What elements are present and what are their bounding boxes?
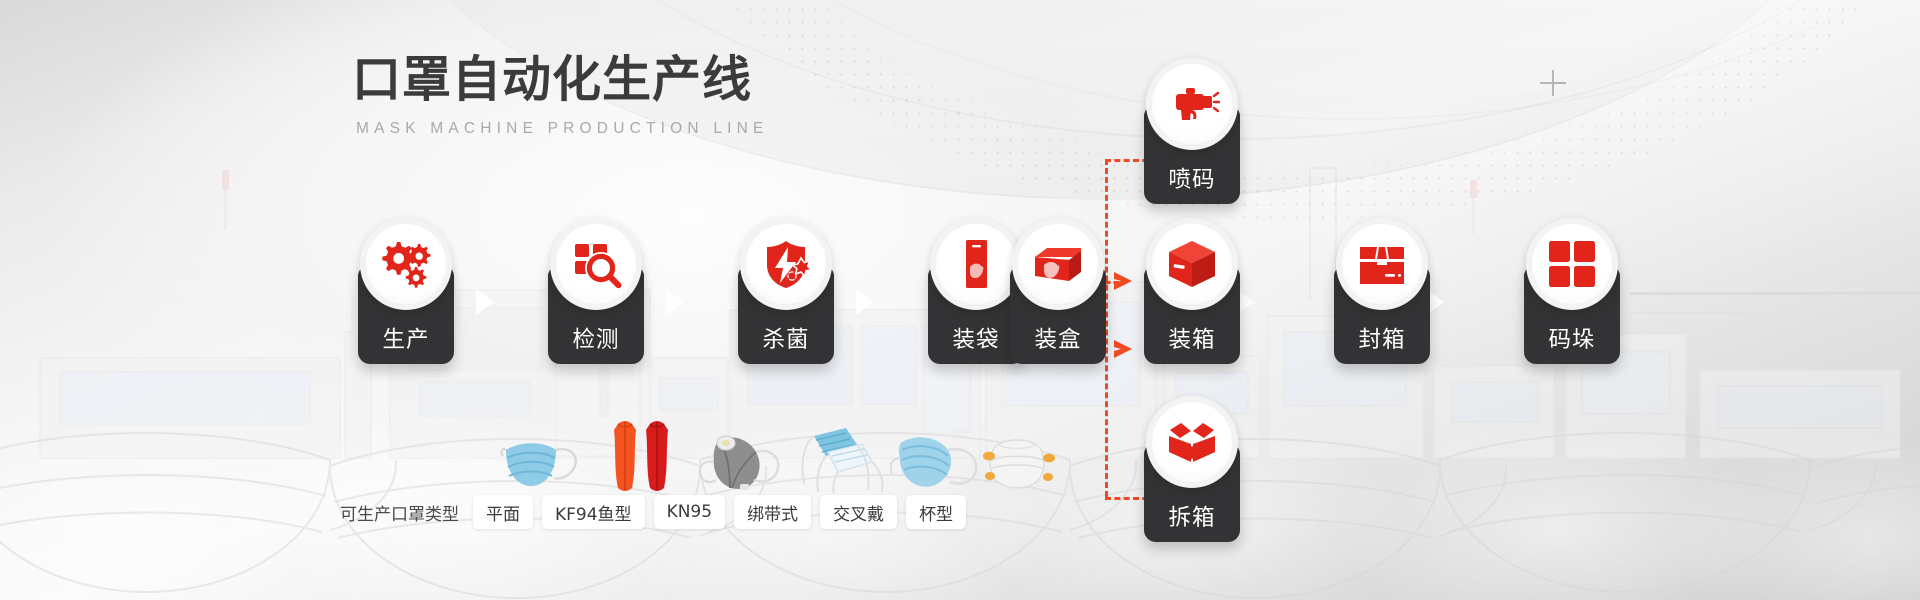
conveyor-rail-line-1: [1630, 292, 1920, 295]
flow-node-label: 码垛: [1548, 329, 1595, 352]
flow-node-jiance[interactable]: 检测: [548, 266, 644, 364]
swoosh-curve-3: [640, 0, 1920, 120]
open-box-icon: [1146, 396, 1238, 488]
shield-sterilize-icon: [740, 218, 832, 310]
flow-node-penma[interactable]: 喷码: [1144, 106, 1240, 204]
flow-node-maduo[interactable]: 码垛: [1524, 266, 1620, 364]
production-line-banner: 口罩自动化生产线 MASK MACHINE PRODUCTION LINE: [0, 0, 1920, 600]
mask-type-tag-tieon[interactable]: 绑带式: [734, 495, 811, 529]
flow-node-label: 装箱: [1168, 329, 1215, 352]
conveyor-rail-line-2: [1630, 312, 1920, 314]
flow-node-label: 装袋: [952, 329, 999, 352]
kf94-fish-mask-photo: [606, 416, 678, 494]
flow-node-body[interactable]: 码垛: [1524, 266, 1620, 364]
closed-cube-box-icon: [1146, 218, 1238, 310]
cup-mask-photo: [978, 430, 1062, 492]
mask-type-tag-kf94[interactable]: KF94鱼型: [542, 495, 645, 529]
flow-node-label: 生产: [382, 329, 429, 352]
flow-node-label: 杀菌: [762, 329, 809, 352]
mask-types-row: 可生产口罩类型 平面 KF94鱼型 KN95 绑带式 交叉戴 杯型: [340, 495, 975, 529]
mask-type-tag-kn95[interactable]: KN95: [654, 495, 726, 529]
inkjet-spray-gun-icon: [1146, 58, 1238, 150]
flow-node-label: 装盒: [1034, 329, 1081, 352]
cross-wear-mask-photo: [890, 428, 982, 492]
flow-node-zhuangxiang[interactable]: 装箱: [1144, 266, 1240, 364]
flow-node-body[interactable]: 装箱: [1144, 266, 1240, 364]
branch-red-arrow-lower: [1112, 336, 1138, 362]
flow-node-body[interactable]: 生产: [358, 266, 454, 364]
mask-type-tag-cross[interactable]: 交叉戴: [820, 495, 897, 529]
banner-heading-block: 口罩自动化生产线 MASK MACHINE PRODUCTION LINE: [352, 52, 769, 138]
flat-surgical-mask-photo: [500, 430, 586, 490]
flow-node-body[interactable]: 封箱: [1334, 266, 1430, 364]
flow-node-label: 喷码: [1168, 169, 1215, 192]
mask-type-tag-flat[interactable]: 平面: [473, 495, 533, 529]
dot-pattern-arc: [640, 0, 1920, 220]
bag-pouch-icon: [930, 218, 1022, 310]
plus-marker-icon: [1540, 70, 1566, 96]
flow-chevron-3: [853, 287, 877, 317]
flow-node-chaixiang[interactable]: 拆箱: [1144, 444, 1240, 542]
tie-on-mask-photo: [792, 422, 890, 494]
flow-node-body[interactable]: 杀菌: [738, 266, 834, 364]
flow-node-zhuanghe[interactable]: 装盒: [1010, 266, 1106, 364]
flow-chevron-2: [663, 287, 687, 317]
flow-node-body[interactable]: 装盒: [1010, 266, 1106, 364]
branch-red-arrow-upper: [1112, 268, 1138, 294]
flow-node-body[interactable]: 拆箱: [1144, 444, 1240, 542]
carton-box-icon: [1012, 218, 1104, 310]
four-squares-pallet-icon: [1526, 218, 1618, 310]
flow-node-shengchan[interactable]: 生产: [358, 266, 454, 364]
flow-chevron-1: [473, 287, 497, 317]
sealed-box-icon: [1336, 218, 1428, 310]
mask-photo-strip: [500, 412, 1020, 494]
kn95-valve-mask-photo: [696, 426, 788, 494]
mask-types-label: 可生产口罩类型: [340, 500, 459, 525]
page-subtitle: MASK MACHINE PRODUCTION LINE: [356, 120, 769, 138]
flow-node-label: 封箱: [1358, 329, 1405, 352]
flow-node-body[interactable]: 喷码: [1144, 106, 1240, 204]
flow-node-label: 拆箱: [1168, 507, 1215, 530]
flow-node-body[interactable]: 检测: [548, 266, 644, 364]
flow-node-fengxiang[interactable]: 封箱: [1334, 266, 1430, 364]
magnifier-inspect-icon: [550, 218, 642, 310]
gears-icon: [360, 218, 452, 310]
page-title: 口罩自动化生产线: [352, 52, 769, 110]
mask-type-tag-cup[interactable]: 杯型: [906, 495, 966, 529]
flow-node-label: 检测: [572, 329, 619, 352]
flow-node-shajun[interactable]: 杀菌: [738, 266, 834, 364]
